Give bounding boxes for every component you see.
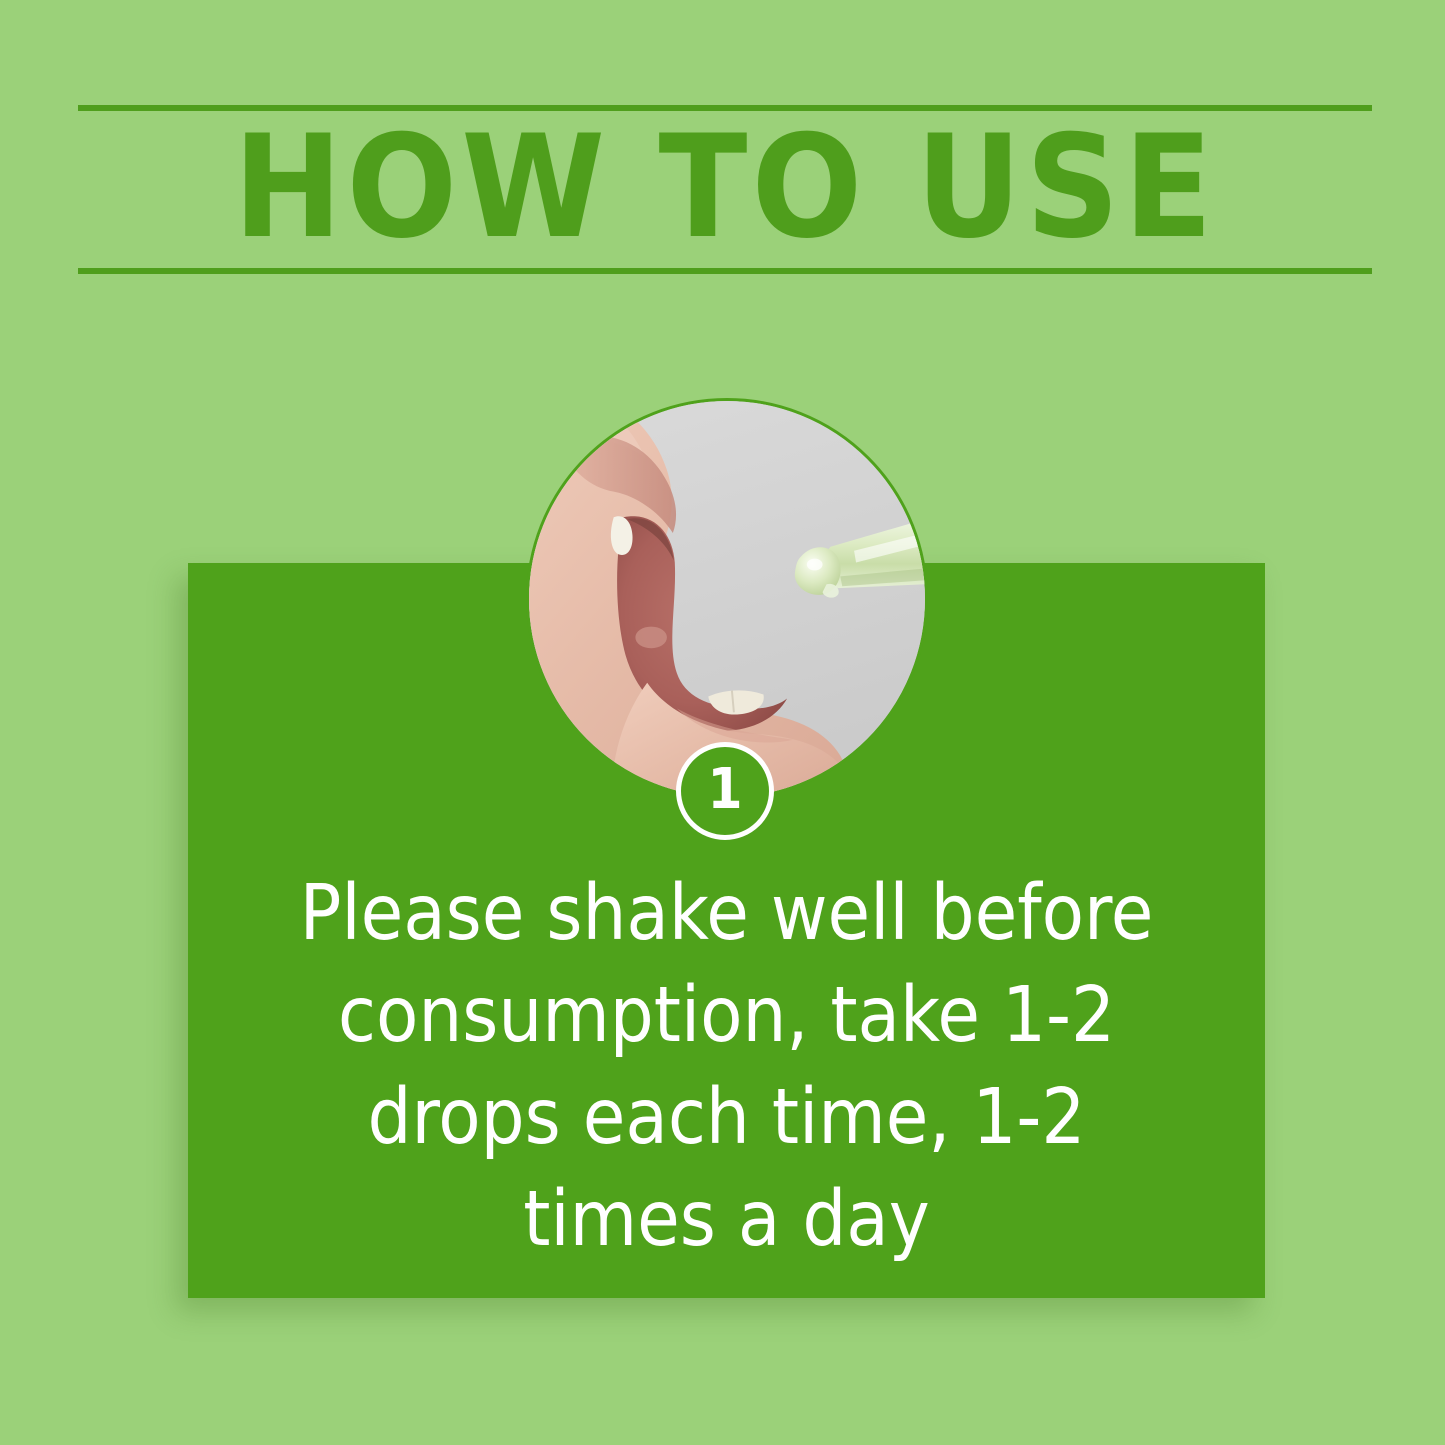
step-photo bbox=[526, 398, 928, 800]
page-title: HOW TO USE bbox=[65, 112, 1385, 264]
step-number-badge: 1 bbox=[676, 742, 774, 840]
open-mouth-with-dropper-icon bbox=[529, 401, 925, 797]
step-number-label: 1 bbox=[681, 747, 769, 835]
how-to-use-poster: HOW TO USE Please shake well before cons… bbox=[0, 0, 1445, 1445]
step-instruction-line: Please shake well before bbox=[248, 863, 1205, 965]
step-instruction-text: Please shake well before consumption, ta… bbox=[248, 863, 1205, 1271]
step-instruction-line: times a day bbox=[248, 1169, 1205, 1271]
step-instruction-line: consumption, take 1-2 bbox=[248, 965, 1205, 1067]
step-instruction-line: drops each time, 1-2 bbox=[248, 1067, 1205, 1169]
header-rule-bottom bbox=[78, 268, 1372, 274]
header: HOW TO USE bbox=[78, 100, 1372, 280]
